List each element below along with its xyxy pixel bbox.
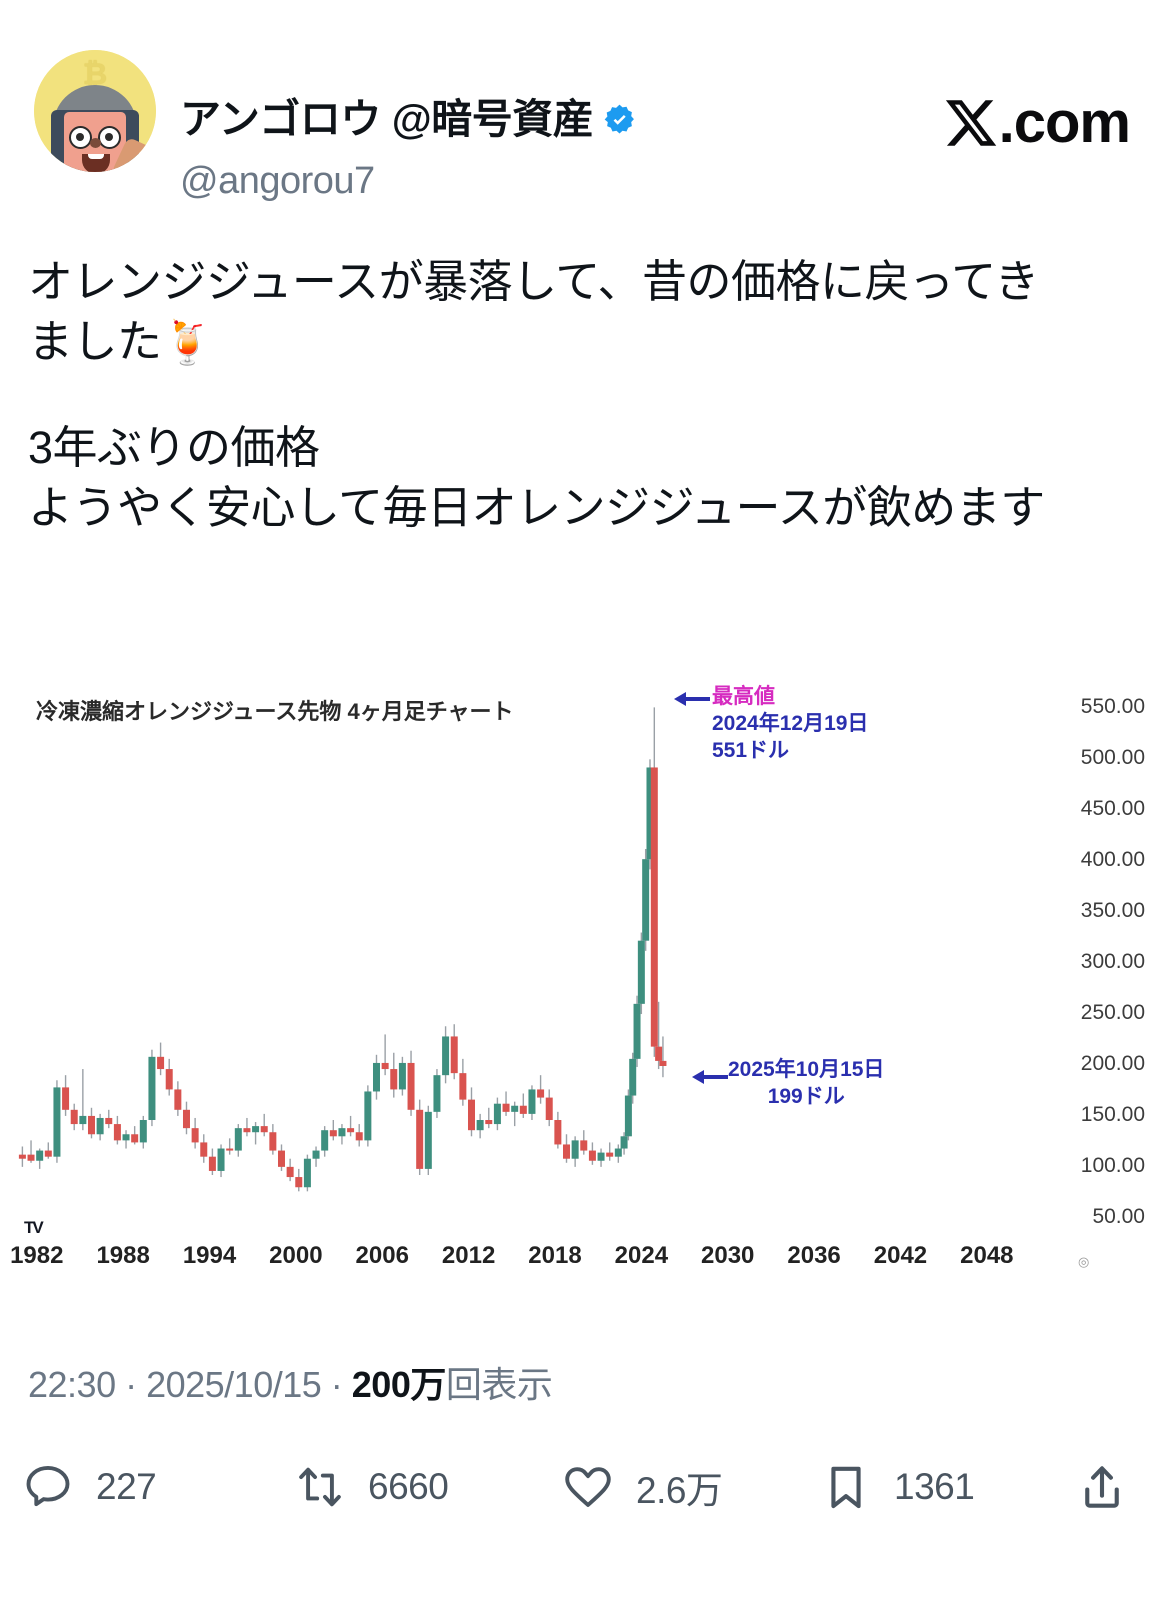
y-axis-tick: 400.00 (1081, 848, 1145, 872)
candle (563, 1144, 570, 1158)
candle (321, 1130, 328, 1150)
candle (356, 1132, 363, 1140)
candle (105, 1118, 112, 1124)
candle (157, 1057, 164, 1069)
x-axis-tick: 2000 (269, 1242, 322, 1270)
candle (200, 1142, 207, 1156)
candle (97, 1118, 104, 1134)
chart-image[interactable]: 冷凍濃縮オレンジジュース先物 4ヶ月足チャート 550.00500.00450.… (0, 682, 1170, 1282)
verified-icon (603, 103, 636, 136)
avatar-teeth (88, 154, 104, 159)
candle (174, 1089, 181, 1109)
candle (468, 1100, 475, 1131)
candle (546, 1098, 553, 1120)
reply-count: 227 (96, 1466, 156, 1508)
x-axis-tick: 2018 (528, 1242, 581, 1270)
avatar-eye-left (69, 126, 92, 149)
brand-com-text: .com (999, 94, 1130, 152)
tweet-screenshot: ₿ アンゴロウ @暗号資産 @angorou7 (0, 0, 1170, 1602)
y-axis-tick: 550.00 (1081, 695, 1145, 719)
candle (655, 1047, 662, 1061)
candle (537, 1089, 544, 1097)
candle (131, 1134, 138, 1142)
candle (442, 1036, 449, 1075)
candle (148, 1057, 155, 1120)
candle (638, 941, 645, 1004)
candle (642, 859, 649, 941)
high-annotation-label: 最高値 (712, 684, 868, 711)
like-count: 2.6万 (636, 1460, 722, 1514)
tweet-line-2: ました🍹 (28, 312, 1138, 372)
candle (598, 1153, 605, 1161)
axis-settings-icon[interactable]: ◎ (1078, 1254, 1089, 1270)
candle (88, 1116, 95, 1134)
candle (390, 1069, 397, 1089)
avatar-pupil-left (76, 133, 84, 141)
tweet-meta: 22:30 · 2025/10/15 · 200万回表示 (28, 1356, 552, 1408)
candle (166, 1069, 173, 1089)
candle (287, 1167, 294, 1177)
candle (218, 1149, 225, 1171)
x-axis-tick: 2006 (356, 1242, 409, 1270)
tweet-time: 22:30 (28, 1364, 116, 1405)
candle (252, 1126, 259, 1132)
x-com-logo: .com (943, 94, 1130, 152)
x-logo-icon (943, 95, 999, 151)
tweet-line-1: オレンジジュースが暴落して、昔の価格に戻ってき (28, 252, 1138, 312)
candle (53, 1087, 60, 1156)
tradingview-watermark-icon: TV (24, 1218, 42, 1238)
high-arrow-icon (672, 688, 712, 710)
x-axis-tick: 2024 (615, 1242, 668, 1270)
candle (235, 1128, 242, 1150)
high-annotation: 最高値 2024年12月19日 551ドル (712, 684, 868, 765)
candle (269, 1132, 276, 1150)
candle (330, 1130, 337, 1136)
y-axis-tick: 100.00 (1081, 1154, 1145, 1178)
candle (261, 1126, 268, 1132)
candle (621, 1136, 628, 1148)
bookmark-count: 1361 (894, 1466, 974, 1508)
y-axis-tick: 250.00 (1081, 1001, 1145, 1025)
candle (477, 1120, 484, 1130)
candle (114, 1124, 121, 1140)
high-annotation-date: 2024年12月19日 (712, 711, 868, 738)
candle (295, 1177, 302, 1187)
candle (511, 1106, 518, 1112)
candle (183, 1110, 190, 1128)
candle (71, 1110, 78, 1124)
y-axis-tick: 500.00 (1081, 746, 1145, 770)
candle (606, 1153, 613, 1157)
avatar-pupil-right (105, 133, 113, 141)
candle (425, 1112, 432, 1169)
tweet-line-2-text: ました (28, 316, 162, 367)
latest-annotation-date: 2025年10月15日 (728, 1057, 884, 1084)
display-name: アンゴロウ @暗号資産 (180, 97, 593, 142)
avatar-eye-right (98, 126, 121, 149)
candle (338, 1128, 345, 1136)
bookmark-button[interactable]: 1361 (820, 1452, 974, 1522)
candle (485, 1120, 492, 1124)
avatar-nose (90, 138, 101, 148)
candle (459, 1073, 466, 1099)
candle (416, 1110, 423, 1169)
candle (364, 1091, 371, 1140)
candle (209, 1157, 216, 1171)
y-axis-tick: 200.00 (1081, 1052, 1145, 1076)
views-suffix: 回表示 (446, 1364, 553, 1405)
tweet-line-3: 3年ぶりの価格 (28, 418, 1138, 478)
avatar[interactable]: ₿ (34, 50, 156, 172)
reply-button[interactable]: 227 (22, 1452, 156, 1522)
y-axis: 550.00500.00450.00400.00350.00300.00250.… (1035, 682, 1165, 1252)
x-axis-tick: 1994 (183, 1242, 236, 1270)
retweet-icon (294, 1461, 346, 1513)
avatar-mouth (82, 154, 110, 172)
meta-separator-2: · (321, 1364, 352, 1405)
tweet-blank-line (28, 372, 1138, 418)
heart-icon (562, 1461, 614, 1513)
comment-icon (22, 1461, 74, 1513)
tweet-text: オレンジジュースが暴落して、昔の価格に戻ってき ました🍹 3年ぶりの価格 ようや… (28, 252, 1138, 537)
meta-separator-1: · (116, 1364, 147, 1405)
candle (625, 1096, 632, 1137)
candle (28, 1155, 35, 1161)
views-count: 200万 (352, 1364, 446, 1405)
x-axis-tick: 2042 (874, 1242, 927, 1270)
x-axis: 1982198819942000200620122018202420302036… (0, 1242, 1170, 1282)
candle (347, 1128, 354, 1132)
x-axis-tick: 2036 (787, 1242, 840, 1270)
candle (373, 1063, 380, 1092)
candle (313, 1151, 320, 1159)
candle (62, 1087, 69, 1109)
latest-arrow-icon (690, 1066, 730, 1088)
candle (451, 1036, 458, 1073)
x-axis-tick: 2048 (960, 1242, 1013, 1270)
candle (278, 1151, 285, 1167)
repost-count: 6660 (368, 1466, 448, 1508)
y-axis-tick: 150.00 (1081, 1103, 1145, 1127)
repost-button[interactable]: 6660 (294, 1452, 448, 1522)
candle (304, 1159, 311, 1188)
candle (528, 1089, 535, 1113)
high-annotation-value: 551ドル (712, 738, 868, 765)
candle (140, 1120, 147, 1142)
candle (399, 1063, 406, 1089)
candle (382, 1063, 389, 1069)
candle (19, 1155, 26, 1159)
candle (615, 1149, 622, 1157)
x-axis-tick: 2030 (701, 1242, 754, 1270)
share-icon (1076, 1461, 1128, 1513)
share-button[interactable] (1076, 1452, 1150, 1522)
candle (659, 1061, 666, 1066)
candle (554, 1120, 561, 1144)
y-axis-tick: 350.00 (1081, 899, 1145, 923)
candlestick-plot (8, 688, 1030, 1228)
candle (589, 1151, 596, 1161)
tweet-header: ₿ アンゴロウ @暗号資産 @angorou7 (30, 42, 1140, 182)
x-axis-tick: 1982 (10, 1242, 63, 1270)
candle (572, 1140, 579, 1158)
candle (45, 1151, 52, 1157)
candle (629, 1059, 636, 1096)
action-bar: 227 6660 2.6万 1361 (22, 1452, 1148, 1542)
latest-annotation-value: 199ドル (728, 1084, 884, 1111)
tropical-drink-emoji: 🍹 (162, 319, 214, 366)
candle (123, 1134, 130, 1140)
candle (494, 1104, 501, 1124)
y-axis-tick: 450.00 (1081, 797, 1145, 821)
y-axis-tick: 50.00 (1092, 1205, 1145, 1229)
candle (36, 1151, 43, 1161)
candle (520, 1106, 527, 1114)
candle (408, 1063, 415, 1110)
bookmark-icon (820, 1461, 872, 1513)
account-handle[interactable]: @angorou7 (180, 160, 375, 203)
y-axis-tick: 300.00 (1081, 950, 1145, 974)
candle (433, 1075, 440, 1112)
like-button[interactable]: 2.6万 (562, 1452, 722, 1522)
x-axis-tick: 2012 (442, 1242, 495, 1270)
candle (503, 1104, 510, 1112)
candle (79, 1116, 86, 1124)
candle (226, 1149, 233, 1151)
latest-annotation: 2025年10月15日 199ドル (728, 1057, 884, 1111)
x-axis-tick: 1988 (96, 1242, 149, 1270)
tweet-date: 2025/10/15 (146, 1364, 321, 1405)
candle (243, 1128, 250, 1132)
account-name-row[interactable]: アンゴロウ @暗号資産 (180, 97, 636, 142)
candle (192, 1128, 199, 1142)
candle (634, 1004, 641, 1059)
candle (580, 1140, 587, 1150)
candle (651, 767, 658, 1046)
tweet-line-4: ようやく安心して毎日オレンジジュースが飲めます (28, 478, 1138, 538)
